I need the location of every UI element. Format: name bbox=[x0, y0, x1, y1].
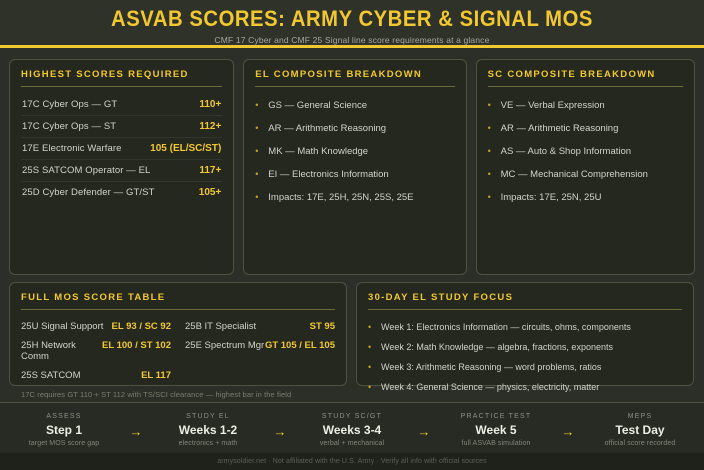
panel-title-sc-composite: SC COMPOSITE BREAKDOWN bbox=[488, 69, 683, 87]
bullet-icon: • bbox=[488, 145, 501, 158]
bullet-icon: • bbox=[368, 341, 381, 354]
list-item-label: Week 4: General Science — physics, elect… bbox=[381, 381, 599, 393]
score-value: 117+ bbox=[199, 165, 221, 176]
table-row: 25S SATCOM EL 117 bbox=[21, 366, 171, 385]
step-kicker: MEPS bbox=[581, 413, 699, 420]
list-item-label: Impacts: 17E, 25H, 25N, 25S, 25E bbox=[268, 191, 413, 204]
bullet-icon: • bbox=[488, 168, 501, 181]
list-item: • MC — Mechanical Comprehension bbox=[488, 163, 683, 186]
step-main: Weeks 3-4 bbox=[293, 423, 411, 437]
step-practice-test: PRACTICE TEST Week 5 full ASVAB simulati… bbox=[437, 413, 555, 447]
bullet-icon: • bbox=[255, 191, 268, 204]
step-main: Step 1 bbox=[5, 423, 123, 437]
list-item: • VE — Verbal Expression bbox=[488, 94, 683, 117]
step-kicker: STUDY SC/GT bbox=[293, 413, 411, 420]
mos-score-grid: 25U Signal Support EL 93 / SC 92 25B IT … bbox=[21, 317, 335, 385]
bullet-icon: • bbox=[368, 381, 381, 394]
mos-name: 25B IT Specialist bbox=[185, 321, 256, 332]
step-study-sc-gt: STUDY SC/GT Weeks 3-4 verbal + mechanica… bbox=[293, 413, 411, 447]
list-item-label: MK — Math Knowledge bbox=[268, 145, 368, 158]
list-item-label: Impacts: 17E, 25N, 25U bbox=[501, 191, 602, 204]
list-item-label: Week 1: Electronics Information — circui… bbox=[381, 321, 631, 333]
score-value: 105+ bbox=[199, 187, 222, 198]
page-title: ASVAB SCORES: ARMY CYBER & SIGNAL MOS bbox=[28, 7, 676, 31]
table-row: 25H Network Comm EL 100 / ST 102 bbox=[21, 336, 171, 366]
step-kicker: ASSESS bbox=[5, 413, 123, 420]
list-item-label: GS — General Science bbox=[268, 99, 367, 112]
score-label: 17C Cyber Ops — ST bbox=[22, 121, 116, 132]
bullet-icon: • bbox=[255, 122, 268, 135]
mos-name: 25U Signal Support bbox=[21, 321, 103, 332]
bullet-icon: • bbox=[255, 168, 268, 181]
list-item: • Impacts: 17E, 25N, 25U bbox=[488, 186, 683, 209]
score-row: 25S SATCOM Operator — EL 117+ bbox=[21, 160, 222, 182]
score-label: 17E Electronic Warfare bbox=[22, 143, 122, 154]
list-item-label: AR — Arithmetic Reasoning bbox=[268, 122, 386, 135]
step-main: Week 5 bbox=[437, 423, 555, 437]
top-panel-row: HIGHEST SCORES REQUIRED 17C Cyber Ops — … bbox=[0, 51, 704, 275]
list-item: • Week 3: Arithmetic Reasoning — word pr… bbox=[368, 357, 682, 377]
list-item: • Week 2: Math Knowledge — algebra, frac… bbox=[368, 337, 682, 357]
bullet-icon: • bbox=[488, 191, 501, 204]
list-item: • Week 1: Electronics Information — circ… bbox=[368, 317, 682, 337]
step-main: Test Day bbox=[581, 423, 699, 437]
header-accent-bar bbox=[0, 45, 704, 48]
list-item: • EI — Electronics Information bbox=[255, 163, 454, 186]
bullet-icon: • bbox=[368, 361, 381, 374]
bullet-icon: • bbox=[255, 145, 268, 158]
table-row: 25E Spectrum Mgr GT 105 / EL 105 bbox=[185, 336, 335, 366]
arrow-right-icon: → bbox=[411, 422, 437, 438]
list-item-label: Week 3: Arithmetic Reasoning — word prob… bbox=[381, 361, 601, 373]
list-item-label: AS — Auto & Shop Information bbox=[501, 145, 631, 158]
arrow-right-icon: → bbox=[123, 422, 149, 438]
list-item: • MK — Math Knowledge bbox=[255, 140, 454, 163]
step-kicker: STUDY EL bbox=[149, 413, 267, 420]
mos-table-note: 17C requires GT 110 + ST 112 with TS/SCI… bbox=[21, 390, 335, 399]
score-row: 17C Cyber Ops — GT 110+ bbox=[21, 94, 222, 116]
score-row: 17C Cyber Ops — ST 112+ bbox=[21, 116, 222, 138]
list-item-label: EI — Electronics Information bbox=[268, 168, 388, 181]
panel-highest-scores: HIGHEST SCORES REQUIRED 17C Cyber Ops — … bbox=[9, 59, 234, 275]
mos-name: 25H Network Comm bbox=[21, 340, 102, 362]
bullet-icon: • bbox=[488, 99, 501, 112]
bullet-icon: • bbox=[488, 122, 501, 135]
panel-title-mos-table: FULL MOS SCORE TABLE bbox=[21, 292, 335, 310]
mos-score: ST 95 bbox=[310, 321, 335, 332]
panel-sc-composite: SC COMPOSITE BREAKDOWN • VE — Verbal Exp… bbox=[476, 59, 695, 275]
steps-timeline: ASSESS Step 1 target MOS score gap → STU… bbox=[0, 403, 704, 453]
arrow-right-icon: → bbox=[267, 422, 293, 438]
score-value: 105 (EL/SC/ST) bbox=[150, 143, 221, 154]
step-desc: target MOS score gap bbox=[5, 440, 123, 447]
list-item: • AS — Auto & Shop Information bbox=[488, 140, 683, 163]
table-row: 25B IT Specialist ST 95 bbox=[185, 317, 335, 336]
list-item-label: MC — Mechanical Comprehension bbox=[501, 168, 648, 181]
mos-score: EL 117 bbox=[141, 370, 171, 381]
step-assess: ASSESS Step 1 target MOS score gap bbox=[5, 413, 123, 447]
list-item-label: VE — Verbal Expression bbox=[501, 99, 605, 112]
arrow-right-icon: → bbox=[555, 422, 581, 438]
page-subtitle: CMF 17 Cyber and CMF 25 Signal line scor… bbox=[0, 35, 704, 45]
page-footer: ASSESS Step 1 target MOS score gap → STU… bbox=[0, 402, 704, 470]
list-item: • Week 4: General Science — physics, ele… bbox=[368, 377, 682, 397]
panel-mos-table: FULL MOS SCORE TABLE 25U Signal Support … bbox=[9, 282, 347, 386]
mos-name: 25S SATCOM bbox=[21, 370, 80, 381]
list-item-label: Week 2: Math Knowledge — algebra, fracti… bbox=[381, 341, 613, 353]
step-desc: full ASVAB simulation bbox=[437, 440, 555, 447]
list-item: • AR — Arithmetic Reasoning bbox=[255, 117, 454, 140]
score-value: 110+ bbox=[199, 99, 221, 110]
list-item: • GS — General Science bbox=[255, 94, 454, 117]
panel-title-study-focus: 30-DAY EL STUDY FOCUS bbox=[368, 292, 682, 310]
score-label: 25D Cyber Defender — GT/ST bbox=[22, 187, 154, 198]
disclaimer-text: armysoldier.net · Not affiliated with th… bbox=[0, 453, 704, 470]
list-item: • Impacts: 17E, 25H, 25N, 25S, 25E bbox=[255, 186, 454, 209]
mos-name: 25E Spectrum Mgr bbox=[185, 340, 264, 351]
score-row: 17E Electronic Warfare 105 (EL/SC/ST) bbox=[21, 138, 222, 160]
panel-el-composite: EL COMPOSITE BREAKDOWN • GS — General Sc… bbox=[243, 59, 466, 275]
table-row: 25U Signal Support EL 93 / SC 92 bbox=[21, 317, 171, 336]
step-desc: verbal + mechanical bbox=[293, 440, 411, 447]
bullet-icon: • bbox=[368, 321, 381, 334]
step-main: Weeks 1-2 bbox=[149, 423, 267, 437]
panel-title-el-composite: EL COMPOSITE BREAKDOWN bbox=[255, 69, 454, 87]
mos-score: EL 100 / ST 102 bbox=[102, 340, 171, 351]
score-label: 25S SATCOM Operator — EL bbox=[22, 165, 150, 176]
step-study-el: STUDY EL Weeks 1-2 electronics + math bbox=[149, 413, 267, 447]
step-desc: official score recorded bbox=[581, 440, 699, 447]
bullet-icon: • bbox=[255, 99, 268, 112]
mos-score: GT 105 / EL 105 bbox=[265, 340, 335, 351]
score-row: 25D Cyber Defender — GT/ST 105+ bbox=[21, 182, 222, 203]
panel-title-highest-scores: HIGHEST SCORES REQUIRED bbox=[21, 69, 222, 87]
list-item-label: AR — Arithmetic Reasoning bbox=[501, 122, 619, 135]
step-kicker: PRACTICE TEST bbox=[437, 413, 555, 420]
bottom-panel-row: FULL MOS SCORE TABLE 25U Signal Support … bbox=[0, 275, 704, 386]
score-value: 112+ bbox=[199, 121, 221, 132]
step-desc: electronics + math bbox=[149, 440, 267, 447]
list-item: • AR — Arithmetic Reasoning bbox=[488, 117, 683, 140]
panel-study-focus: 30-DAY EL STUDY FOCUS • Week 1: Electron… bbox=[356, 282, 694, 386]
step-meps: MEPS Test Day official score recorded bbox=[581, 413, 699, 447]
mos-score: EL 93 / SC 92 bbox=[112, 321, 172, 332]
score-label: 17C Cyber Ops — GT bbox=[22, 99, 117, 110]
page-header: ASVAB SCORES: ARMY CYBER & SIGNAL MOS CM… bbox=[0, 0, 704, 48]
